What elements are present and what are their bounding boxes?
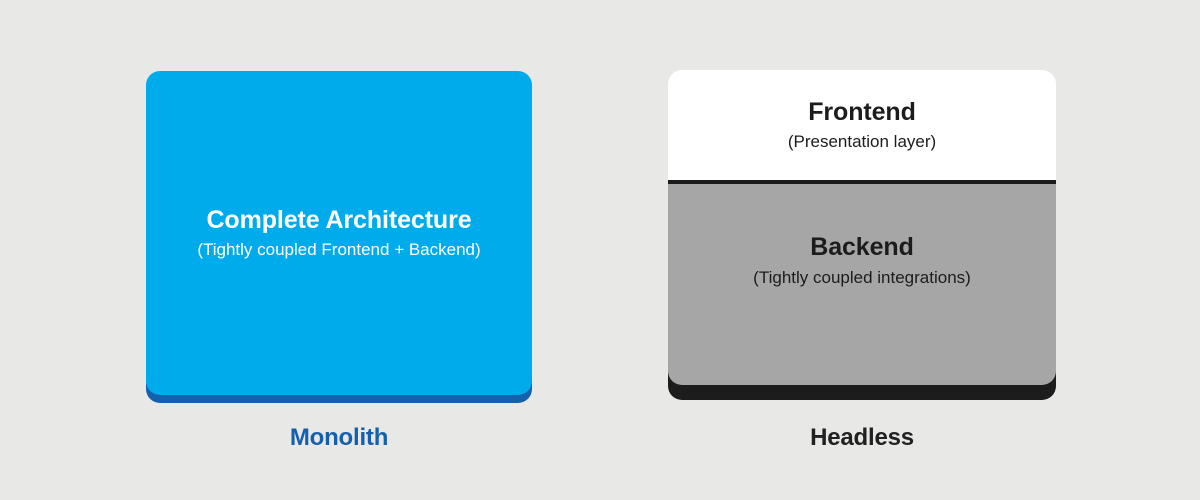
frontend-panel-title: Frontend — [808, 98, 916, 128]
monolith-card-stack: Complete Architecture (Tightly coupled F… — [146, 71, 532, 403]
monolith-complete-architecture-card[interactable]: Complete Architecture (Tightly coupled F… — [146, 71, 532, 395]
frontend-panel-subtitle: (Presentation layer) — [788, 131, 936, 152]
architecture-comparison-diagram: Complete Architecture (Tightly coupled F… — [0, 0, 1200, 500]
headless-backend-panel[interactable]: Backend (Tightly coupled integrations) — [668, 184, 1056, 385]
monolith-card-title: Complete Architecture — [206, 206, 471, 236]
monolith-caption-label: Monolith — [146, 424, 532, 453]
backend-panel-subtitle: (Tightly coupled integrations) — [753, 267, 971, 288]
headless-card-stack: Frontend (Presentation layer) Backend (T… — [668, 70, 1056, 400]
headless-column: Frontend (Presentation layer) Backend (T… — [668, 0, 1056, 500]
monolith-card-subtitle: (Tightly coupled Frontend + Backend) — [197, 239, 480, 260]
backend-panel-title: Backend — [810, 233, 914, 263]
headless-frontend-panel[interactable]: Frontend (Presentation layer) — [668, 70, 1056, 180]
headless-caption-label: Headless — [668, 424, 1056, 453]
monolith-column: Complete Architecture (Tightly coupled F… — [146, 0, 532, 500]
